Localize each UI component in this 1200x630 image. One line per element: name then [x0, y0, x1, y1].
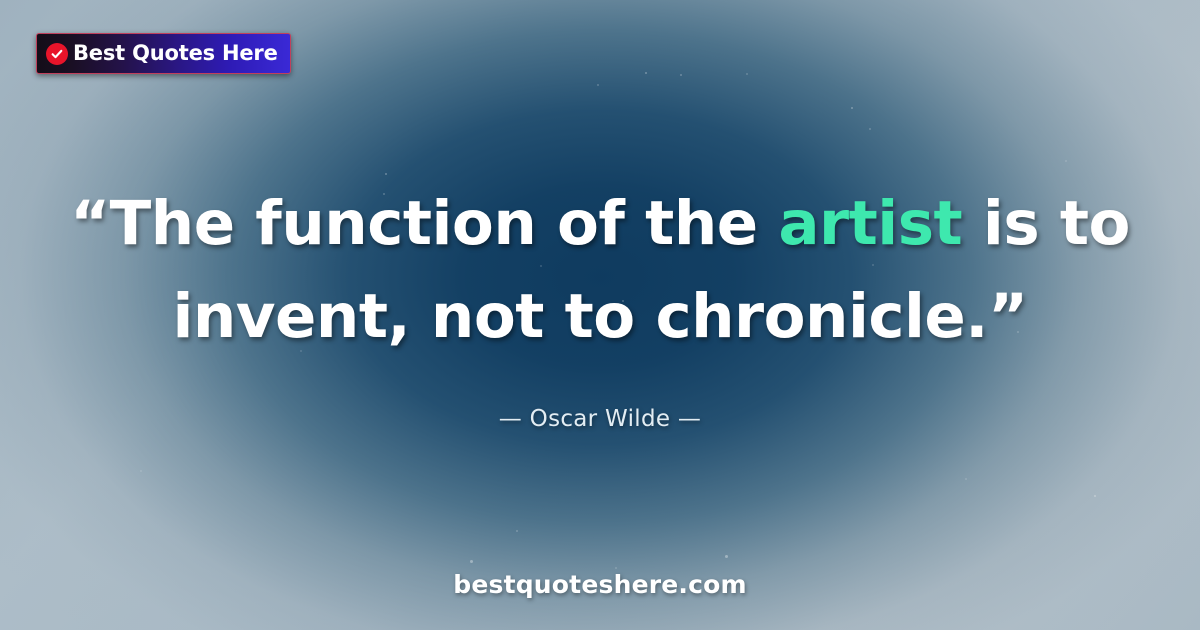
site-url: bestquoteshere.com — [0, 570, 1200, 599]
quote-line-1: “The function of the artist is to — [60, 178, 1140, 271]
background-speck — [385, 173, 387, 175]
background-speck — [1065, 160, 1067, 162]
quote-line-2: invent, not to chronicle.” — [60, 271, 1140, 364]
background-speck — [140, 470, 142, 472]
quote-attribution: — Oscar Wilde — — [0, 406, 1200, 432]
background-speck — [869, 128, 871, 130]
background-speck — [965, 478, 967, 480]
background-speck — [725, 555, 728, 558]
background-speck — [746, 73, 748, 75]
quote-block: “The function of the artist is to invent… — [0, 178, 1200, 363]
background-speck — [615, 567, 617, 569]
background-speck — [851, 107, 853, 109]
check-circle-icon — [46, 43, 68, 65]
quote-card: Best Quotes Here “The function of the ar… — [0, 0, 1200, 630]
quote-highlight-word: artist — [778, 188, 962, 259]
background-speck — [645, 72, 647, 74]
background-speck — [680, 74, 682, 76]
quote-line-1-prefix: “The function of the — [70, 188, 778, 259]
background-speck — [470, 560, 473, 563]
quote-line-1-suffix: is to — [962, 188, 1130, 259]
background-speck — [1094, 495, 1096, 497]
quote-text: “The function of the artist is to invent… — [60, 178, 1140, 363]
brand-badge[interactable]: Best Quotes Here — [36, 33, 291, 74]
brand-badge-label: Best Quotes Here — [73, 43, 278, 64]
background-speck — [516, 530, 518, 532]
background-speck — [597, 84, 599, 86]
